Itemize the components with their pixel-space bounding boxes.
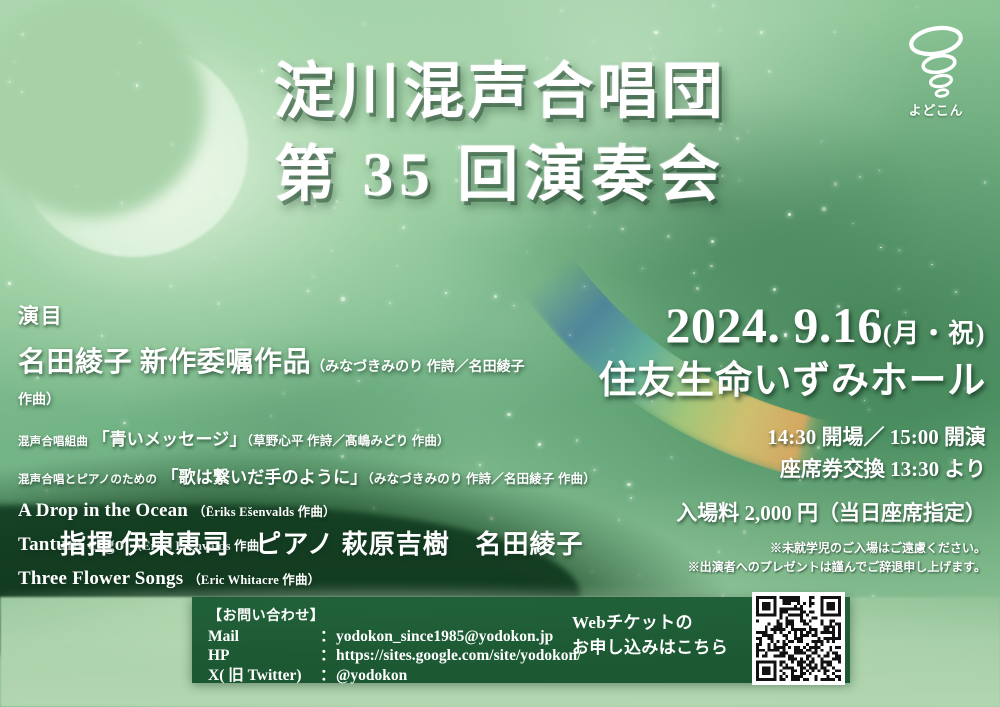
program-item-title: 「歌は繋いだ手のように」 <box>161 468 367 487</box>
concert-poster: よどこん 淀川混声合唱団 第 35 回演奏会 演目 名田綾子 新作委嘱作品（みな… <box>0 0 1000 707</box>
program-item: A Drop in the Ocean （Ēriks Ešenvalds 作曲） <box>18 500 538 522</box>
contact-value-mail[interactable]: yodokon_since1985@yodokon.jp <box>336 627 581 646</box>
contact-title: 【お問い合わせ】 <box>208 605 581 625</box>
program-item-title: 「青いメッセージ」 <box>92 430 246 449</box>
program-item-credit: （草野心平 作詩／髙嶋みどり 作曲） <box>247 434 450 448</box>
program-item: 混声合唱組曲 「青いメッセージ」（草野心平 作詩／髙嶋みどり 作曲） <box>18 425 538 450</box>
contact-value-hp[interactable]: https://sites.google.com/site/yodokon/ <box>336 646 581 665</box>
webticket-line-1: Webチケットの <box>572 611 728 636</box>
contact-sep: ： <box>320 627 336 646</box>
program-feature: 名田綾子 新作委嘱作品（みなづきみのり 作詩／名田綾子 作曲） <box>18 340 538 412</box>
event-date: 2024. 9.16(月・祝) <box>598 300 986 350</box>
conductor-label: 指揮 <box>60 530 114 559</box>
event-price: 入場料 2,000 円（当日座席指定） <box>598 497 986 527</box>
performers-line: 指揮 伊東恵司 ピアノ 萩原吉樹 名田綾子 <box>60 524 584 561</box>
table-row: HP ： https://sites.google.com/site/yodok… <box>208 646 581 665</box>
program-item: 混声合唱とピアノのための 「歌は繋いだ手のように」（みなづきみのり 作詩／名田綾… <box>18 463 538 488</box>
qr-code[interactable] <box>752 592 845 685</box>
open-close-time: 14:30 開場／ 15:00 開演 <box>598 422 986 454</box>
contact-value-x[interactable]: @yodokon <box>336 666 581 685</box>
contact-key-mail: Mail <box>208 627 320 646</box>
page-subtitle: 第 35 回演奏会 <box>0 145 1000 206</box>
program-item-title: Three Flower Songs <box>18 568 183 589</box>
title-block: 淀川混声合唱団 第 35 回演奏会 <box>0 62 1000 206</box>
program-item-credit: （Eric Whitacre 作曲） <box>188 573 320 587</box>
event-times: 14:30 開場／ 15:00 開演 座席券交換 13:30 より <box>598 422 986 485</box>
program-heading: 演目 <box>18 300 538 330</box>
event-day-of-week: (月・祝) <box>883 319 986 348</box>
piano-name-2: 名田綾子 <box>475 530 583 559</box>
webticket-callout: Webチケットの お申し込みはこちら <box>572 611 728 660</box>
program-item-title: A Drop in the Ocean <box>18 500 188 521</box>
contact-sep: ： <box>320 646 336 665</box>
event-notes: ※未就学児のご入場はご遠慮ください。 ※出演者へのプレゼントは謹んでご辞退申し上… <box>598 539 986 577</box>
contact-sep: ： <box>320 666 336 685</box>
contact-key-hp: HP <box>208 646 320 665</box>
program-item-prefix: 混声合唱とピアノのための <box>18 474 157 486</box>
note-preschool: ※未就学児のご入場はご遠慮ください。 <box>598 539 986 558</box>
contact-block: 【お問い合わせ】 Mail ： yodokon_since1985@yodoko… <box>208 605 581 685</box>
event-venue: 住友生命いずみホール <box>598 362 986 400</box>
contact-key-x: X( 旧 Twitter) <box>208 666 320 685</box>
table-row: Mail ： yodokon_since1985@yodokon.jp <box>208 627 581 646</box>
program-item-credit: （Ēriks Ešenvalds 作曲） <box>193 505 336 519</box>
note-presents: ※出演者へのプレゼントは謹んでご辞退申し上げます。 <box>598 558 986 577</box>
page-title: 淀川混声合唱団 <box>0 62 1000 123</box>
piano-name: 萩原吉樹 <box>342 530 450 559</box>
piano-label: ピアノ <box>255 530 334 559</box>
program-item-prefix: 混声合唱組曲 <box>18 436 88 448</box>
table-row: X( 旧 Twitter) ： @yodokon <box>208 666 581 685</box>
program-item-credit: （みなづきみのり 作詩／名田綾子 作曲） <box>367 472 595 486</box>
ticket-exchange-time: 座席券交換 13:30 より <box>598 454 986 486</box>
event-date-value: 2024. 9.16 <box>665 297 883 353</box>
event-info: 2024. 9.16(月・祝) 住友生命いずみホール 14:30 開場／ 15:… <box>598 300 986 577</box>
program-item: Three Flower Songs （Eric Whitacre 作曲） <box>18 568 538 590</box>
webticket-line-2: お申し込みはこちら <box>572 636 728 661</box>
contact-table: Mail ： yodokon_since1985@yodokon.jp HP ：… <box>208 627 581 685</box>
program-feature-title: 名田綾子 新作委嘱作品 <box>18 347 311 378</box>
conductor-name: 伊東恵司 <box>122 530 230 559</box>
